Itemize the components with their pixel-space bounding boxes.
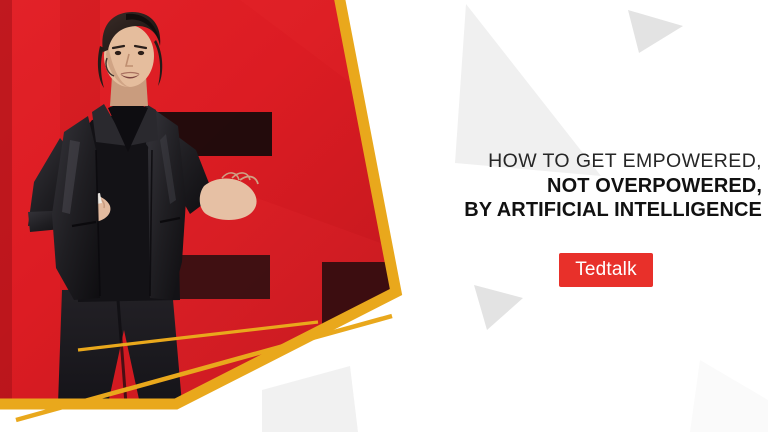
badge-container: Tedtalk <box>450 253 762 287</box>
headline: HOW TO GET EMPOWERED, NOT OVERPOWERED, B… <box>450 150 762 223</box>
headline-line-2: NOT OVERPOWERED, <box>450 174 762 198</box>
content-column: HOW TO GET EMPOWERED, NOT OVERPOWERED, B… <box>438 0 768 432</box>
headline-line-3: BY ARTIFICIAL INTELLIGENCE <box>450 198 762 222</box>
tedtalk-badge[interactable]: Tedtalk <box>559 253 653 287</box>
headline-line-1: HOW TO GET EMPOWERED, <box>450 150 762 174</box>
ted-talk-banner: HOW TO GET EMPOWERED, NOT OVERPOWERED, B… <box>0 0 768 432</box>
